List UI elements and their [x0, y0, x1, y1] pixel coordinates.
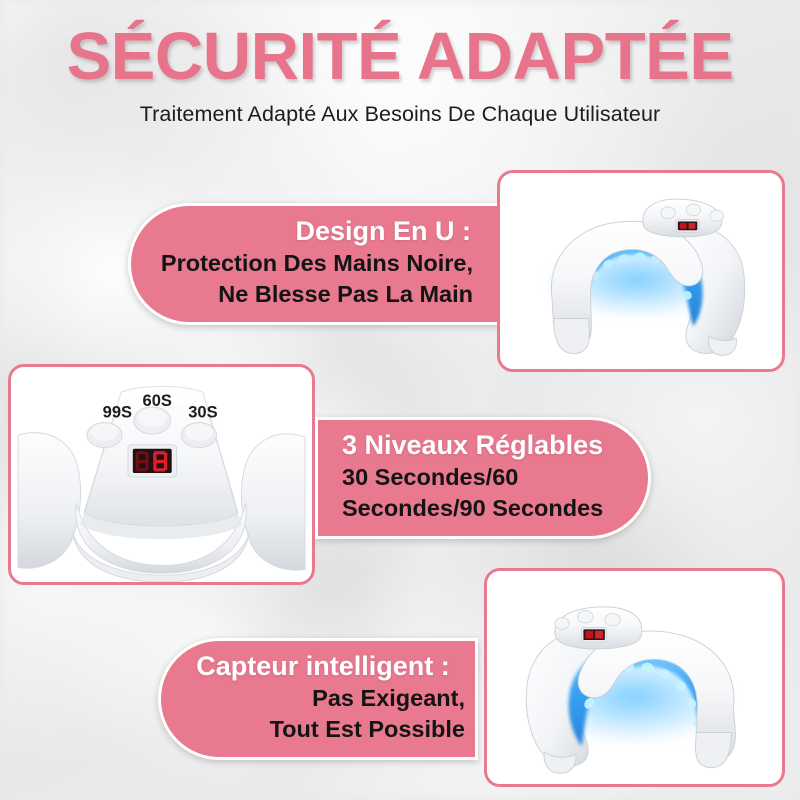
digital-display-panel — [128, 445, 177, 477]
product-photo-control-panel: 99S 60S 30S — [8, 364, 315, 585]
product-image — [500, 173, 782, 369]
callout-niveaux-reglables: 3 Niveaux Réglables 30 Secondes/60 Secon… — [315, 417, 651, 539]
page-subtitle: Traitement Adapté Aux Besoins De Chaque … — [0, 92, 800, 127]
callout-heading: 3 Niveaux Réglables — [342, 429, 628, 462]
callout-line: Ne Blesse Pas La Main — [151, 279, 473, 310]
callout-capteur-intelligent: Capteur intelligent : Pas Exigeant, Tout… — [158, 638, 478, 760]
control-panel-illustration: 99S 60S 30S — [11, 367, 312, 582]
button-label-99s: 99S — [103, 403, 132, 422]
product-photo-u-lamp-right — [497, 170, 785, 372]
product-photo-u-lamp-left — [484, 568, 785, 787]
lamp-illustration-left — [487, 571, 782, 784]
digital-display-bottom — [581, 627, 606, 642]
lamp-illustration-right — [500, 173, 782, 369]
page-title: SÉCURITÉ ADAPTÉE — [0, 0, 800, 92]
button-label-30s: 30S — [188, 403, 217, 422]
product-image: 99S 60S 30S — [11, 367, 312, 582]
infographic-poster: SÉCURITÉ ADAPTÉE Traitement Adapté Aux B… — [0, 0, 800, 800]
digital-display-top — [676, 220, 699, 233]
callout-design-en-u: Design En U : Protection Des Mains Noire… — [128, 203, 500, 325]
callout-heading: Design En U : — [151, 215, 473, 248]
callout-line: Protection Des Mains Noire, — [151, 248, 473, 279]
product-image — [487, 571, 782, 784]
callout-heading: Capteur intelligent : — [181, 650, 465, 683]
callout-line: 30 Secondes/60 — [342, 462, 628, 493]
callout-line: Secondes/90 Secondes — [342, 493, 628, 524]
callout-line: Pas Exigeant, — [181, 683, 465, 714]
header: SÉCURITÉ ADAPTÉE Traitement Adapté Aux B… — [0, 0, 800, 127]
callout-line: Tout Est Possible — [181, 714, 465, 745]
